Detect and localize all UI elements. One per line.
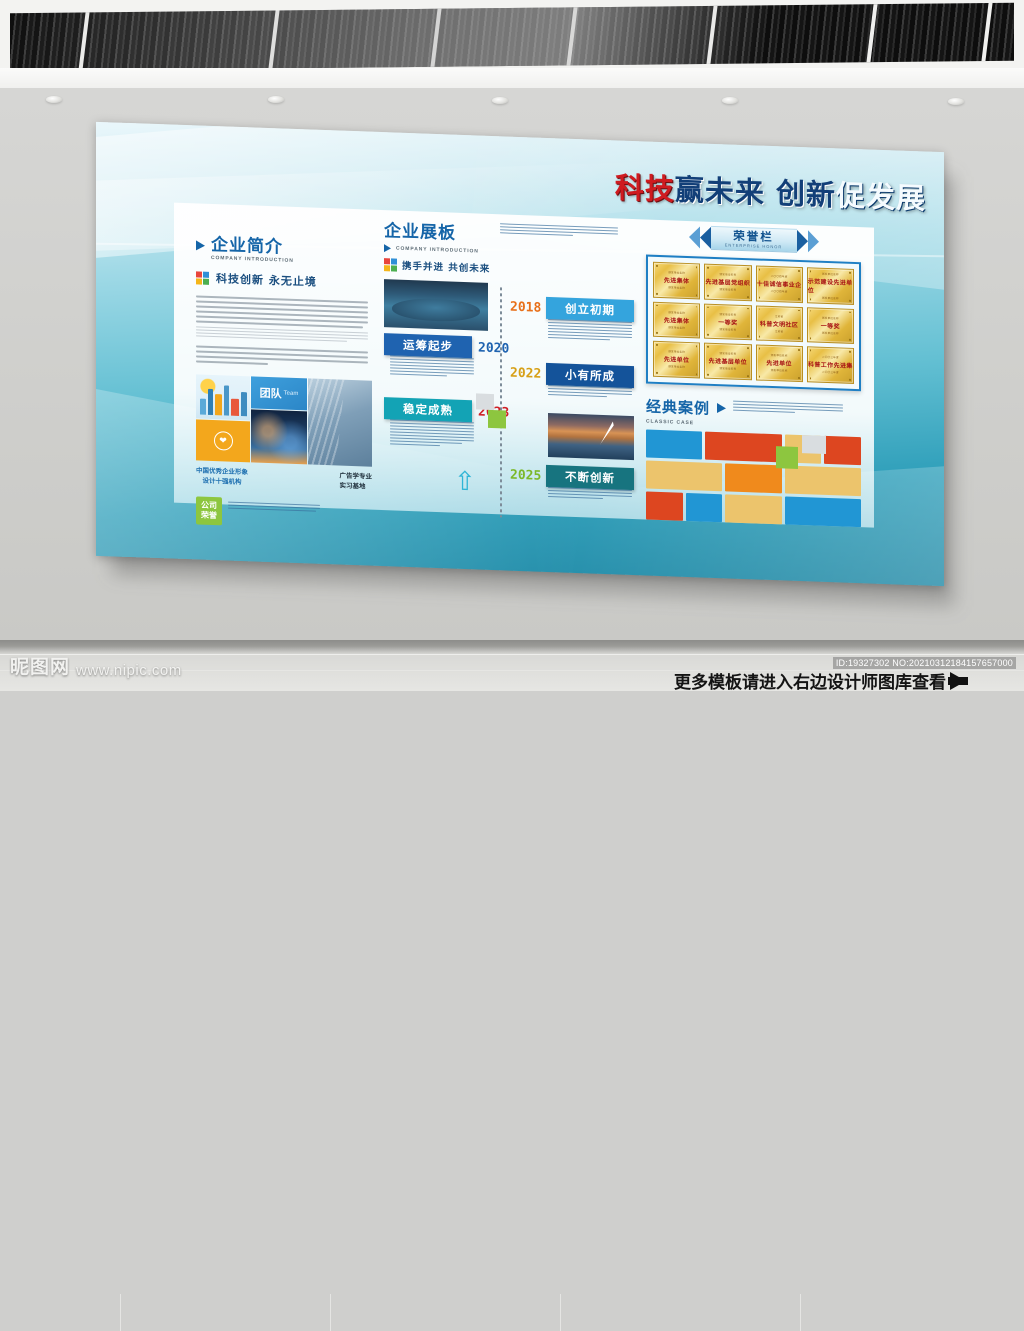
ceiling-spotlight: [492, 97, 508, 104]
case-color-block: [824, 435, 861, 464]
honor-plaque: 颁发单位名称一等奖颁发单位名称: [704, 303, 751, 340]
city-illustration-tile: [196, 374, 250, 420]
classic-case-title-en: CLASSIC CASE: [646, 418, 710, 426]
honor-plaque-issuer: 颁发单位名称: [668, 365, 685, 370]
caption-left: 中国优秀企业形象设计十强机构: [196, 466, 248, 487]
case-color-block: [785, 465, 861, 496]
company-intro-title: 企业简介: [211, 230, 294, 258]
slat-gap: [706, 6, 717, 64]
honor-plaque-subtitle: 颁发单位名称: [771, 353, 788, 358]
triangle-bullet-icon: [384, 244, 391, 252]
ceiling-spotlight: [268, 96, 284, 103]
color-swatch-icon: [384, 258, 397, 271]
plaque-screw-icon: [656, 293, 658, 295]
honor-plaque: 颁发单位名称先进单位颁发单位名称: [756, 344, 803, 381]
honor-plaque-subtitle: 二〇〇四年度: [771, 274, 788, 279]
honor-plaque-issuer: 颁发单位名称: [668, 286, 685, 291]
honor-plaque-subtitle: 颁发单位名称: [668, 271, 685, 276]
exhibition-title-en: COMPANY INTRODUCTION: [396, 246, 479, 255]
honor-ribbon-header: 荣誉栏 ENTERPRISE HONOR: [646, 224, 861, 256]
plaque-screw-icon: [798, 377, 800, 379]
plaque-screw-icon: [747, 375, 749, 377]
classic-case-intro-text: [733, 398, 843, 416]
timeline-banner: 创立初期: [546, 297, 634, 322]
honor-title-en: ENTERPRISE HONOR: [725, 242, 783, 249]
timeline-text: [548, 487, 632, 502]
plaque-screw-icon: [810, 338, 812, 340]
company-intro-paragraph-1: [196, 295, 368, 328]
plaque-screw-icon: [759, 269, 761, 271]
plaque-screw-icon: [810, 377, 812, 379]
case-color-block: [705, 431, 781, 462]
plaque-screw-icon: [849, 351, 851, 353]
triangle-bullet-icon: [196, 240, 205, 250]
timeline-text: [390, 419, 474, 449]
honor-plaque-subtitle: 颁发单位名称: [719, 312, 736, 317]
honor-plaque-issuer: 颁发单位名称: [822, 331, 839, 336]
timeline-text: [548, 319, 632, 343]
plaque-screw-icon: [759, 308, 761, 310]
ceiling-spotlight: [722, 97, 738, 104]
honor-plaque-subtitle: 颁发单位名称: [668, 350, 685, 355]
team-label-zh: 团队: [260, 385, 282, 402]
plaque-screw-icon: [656, 372, 658, 374]
watermark-url: www.nipic.com: [76, 662, 182, 679]
watermark-logo: 昵图网: [10, 652, 70, 679]
timeline-year: 2018: [510, 300, 541, 316]
plaque-screw-icon: [707, 374, 709, 376]
honor-plaque: 颁发单位名称一等奖颁发单位名称: [807, 307, 854, 344]
honor-plaque-issuer: 颁发单位名称: [719, 287, 736, 292]
content-panel: 企业简介 COMPANY INTRODUCTION 科技创新 永无止境: [174, 203, 874, 528]
timeline-photo-city: [384, 279, 488, 331]
honor-badge-text: [228, 497, 320, 513]
case-color-block: [725, 494, 781, 524]
honor-plaque-title: 十佳诚信事业企: [757, 279, 802, 290]
honor-plaque-title: 一等奖: [718, 317, 737, 327]
heart-icon: ❤: [214, 431, 233, 451]
timeline-year: 2025: [510, 468, 541, 484]
honor-plaque-issuer: 颁发单位名称: [719, 327, 736, 332]
honor-plaque-title: 示范建设先进单位: [808, 276, 853, 296]
plaque-screw-icon: [656, 344, 658, 346]
team-label-en: Team: [284, 391, 299, 398]
slat-gap: [430, 9, 441, 67]
slat-gap: [981, 3, 992, 61]
honor-plaque: 颁发单位名称先进集体颁发单位名称: [653, 301, 700, 338]
honor-plaque-issuer: 江苏省: [775, 329, 783, 333]
honor-plaque: 颁发单位名称先进基层党组织颁发单位名称: [704, 264, 751, 301]
company-intro-image-mosaic: ❤ 团队 Team: [196, 374, 372, 466]
plaque-screw-icon: [798, 309, 800, 311]
ceiling-slats: [10, 3, 1014, 72]
honor-plaque-title: 先进集体: [664, 275, 690, 285]
case-color-block: [646, 460, 722, 491]
honor-plaque-title: 一等奖: [821, 321, 840, 331]
exhibition-title: 企业展板: [384, 216, 490, 245]
case-color-block: [686, 492, 723, 521]
decor-square-green: [776, 446, 798, 469]
plaque-screw-icon: [849, 311, 851, 313]
classic-case-title: 经典案例: [646, 395, 710, 418]
timeline-year: 2022: [510, 366, 541, 382]
honor-plaque: 江苏省科普文明社区江苏省: [756, 305, 803, 342]
case-color-block: [646, 429, 702, 459]
case-color-block: [646, 491, 683, 520]
honor-plaque-title: 先进基层单位: [709, 356, 747, 366]
team-tile: 团队 Team: [251, 376, 307, 410]
culture-wall-board[interactable]: 科技赢未来 创新促发展 企业简介 COMPANY INTRODUCTION: [96, 122, 944, 586]
plaque-screw-icon: [696, 294, 698, 296]
plaque-screw-icon: [759, 296, 761, 298]
honor-plaque: 颁发单位名称示范建设先进单位颁发单位名称: [807, 267, 854, 304]
timeline-banner: 稳定成熟: [384, 397, 472, 422]
promo-text: 更多模板请进入右边设计师图库查看: [674, 668, 946, 693]
honor-ribbon: 荣誉栏 ENTERPRISE HONOR: [711, 226, 797, 253]
honor-badge: 公司荣誉: [196, 496, 222, 525]
exhibition-subtitle: 携手并进 共创未来: [402, 258, 490, 275]
plaque-screw-icon: [810, 298, 812, 300]
honor-plaque-subtitle: 颁发单位名称: [822, 316, 839, 321]
arrow-right-icon: [950, 672, 966, 690]
color-swatch-icon: [196, 271, 209, 284]
timeline-year: 2020: [478, 340, 509, 356]
honor-plaque-issuer: 颁发单位名称: [668, 325, 685, 330]
plaque-screw-icon: [747, 336, 749, 338]
decor-square-grey: [802, 435, 826, 454]
honor-plaque: 二〇〇三年度科普工作先进集二〇〇三年度: [807, 346, 854, 383]
honor-plaque-issuer: 颁发单位名称: [719, 366, 736, 371]
plaque-screw-icon: [707, 346, 709, 348]
honor-plaque-subtitle: 颁发单位名称: [668, 310, 685, 315]
honor-plaque-issuer: 颁发单位名称: [822, 296, 839, 301]
plaque-screw-icon: [656, 265, 658, 267]
section-company-intro: 企业简介 COMPANY INTRODUCTION 科技创新 永无止境: [196, 229, 372, 530]
company-intro-paragraph-en: [196, 326, 368, 342]
honor-plaque-title: 先进单位: [766, 358, 792, 368]
night-city-photo: [251, 409, 307, 464]
honor-plaque: 颁发单位名称先进集体颁发单位名称: [653, 262, 700, 299]
honor-plaque-title: 科普文明社区: [760, 318, 798, 328]
plaque-screw-icon: [696, 373, 698, 375]
plaque-screw-icon: [759, 336, 761, 338]
honor-plaque-subtitle: 二〇〇三年度: [822, 355, 839, 360]
case-color-block: [785, 496, 861, 527]
timeline: 2018 创立初期 运筹起步 2020 2022 小有所成: [384, 279, 634, 524]
ceiling: [0, 0, 1024, 68]
plaque-screw-icon: [849, 300, 851, 302]
honor-plaque-issuer: 二〇〇三年度: [822, 370, 839, 375]
honor-plaque: 二〇〇四年度十佳诚信事业企二〇〇四年度: [756, 265, 803, 302]
headline-part-4: 促发展: [836, 172, 926, 217]
plaque-screw-icon: [849, 272, 851, 274]
caption-right: 广告学专业实习基地: [340, 472, 373, 493]
plaque-screw-icon: [810, 270, 812, 272]
plaque-screw-icon: [696, 306, 698, 308]
chevron-left-icon: [689, 226, 700, 248]
timeline-banner: 小有所成: [546, 363, 634, 388]
plaque-screw-icon: [798, 337, 800, 339]
exhibition-intro-text: [500, 220, 618, 239]
plaque-screw-icon: [849, 339, 851, 341]
section-exhibition: 企业展板 COMPANY INTRODUCTION 携手并进 共创未来: [384, 216, 634, 524]
honor-plaque: 颁发单位名称先进基层单位颁发单位名称: [704, 343, 751, 380]
plaque-screw-icon: [656, 304, 658, 306]
plaque-screw-icon: [747, 347, 749, 349]
section-honor-and-cases: 荣誉栏 ENTERPRISE HONOR 颁发单位名称先进集体颁发单位名称颁发单…: [646, 220, 861, 527]
slat-gap: [78, 12, 89, 70]
honor-plaque-title: 先进集体: [664, 315, 690, 325]
plaque-screw-icon: [747, 296, 749, 298]
timeline-banner: 运筹起步: [384, 333, 472, 358]
honor-plaque-title: 科普工作先进集: [808, 360, 853, 371]
chevron-right-icon: [797, 230, 808, 252]
honor-plaque-subtitle: 颁发单位名称: [719, 351, 736, 356]
honor-plaque-grid: 颁发单位名称先进集体颁发单位名称颁发单位名称先进基层党组织颁发单位名称二〇〇四年…: [653, 262, 854, 384]
honor-plaque-subtitle: 江苏省: [775, 314, 783, 318]
plaque-screw-icon: [810, 310, 812, 312]
honor-plaque-subtitle: 颁发单位名称: [822, 272, 839, 277]
plaque-screw-icon: [747, 268, 749, 270]
honor-plaque-title: 先进单位: [664, 354, 690, 364]
headline-part-1: 科技: [615, 164, 675, 208]
chevron-right-icon: [808, 230, 819, 252]
plaque-screw-icon: [707, 334, 709, 336]
company-intro-subtitle: 科技创新 永无止境: [216, 270, 317, 290]
board-headline: 科技赢未来 创新促发展: [615, 164, 926, 217]
timeline-photo-sunset-sailboat: [548, 413, 634, 460]
plaque-screw-icon: [798, 349, 800, 351]
case-color-block: [725, 463, 781, 493]
plaque-screw-icon: [707, 267, 709, 269]
timeline-text: [548, 385, 632, 400]
plaque-screw-icon: [798, 270, 800, 272]
honor-plaque-frame: 颁发单位名称先进集体颁发单位名称颁发单位名称先进基层党组织颁发单位名称二〇〇四年…: [646, 255, 861, 391]
honor-plaque-issuer: 二〇〇四年度: [771, 289, 788, 294]
honor-plaque-subtitle: 颁发单位名称: [719, 272, 736, 277]
plaque-screw-icon: [696, 334, 698, 336]
plaque-screw-icon: [849, 379, 851, 381]
slat-gap: [866, 4, 877, 62]
plaque-screw-icon: [759, 348, 761, 350]
ceiling-spotlight: [948, 98, 964, 105]
timeline-banner: 不断创新: [546, 465, 634, 490]
plaque-screw-icon: [810, 349, 812, 351]
growth-arrow-icon: ⇧: [454, 468, 476, 495]
plaque-screw-icon: [707, 306, 709, 308]
slat-gap: [268, 10, 279, 68]
honor-plaque: 颁发单位名称先进单位颁发单位名称: [653, 341, 700, 378]
classic-case-block-grid: [646, 429, 861, 527]
promo-banner: 更多模板请进入右边设计师图库查看: [674, 668, 966, 693]
plaque-screw-icon: [707, 295, 709, 297]
chevron-left-icon: [700, 226, 711, 248]
plaque-screw-icon: [759, 375, 761, 377]
plaque-screw-icon: [656, 332, 658, 334]
heart-icon-tile: ❤: [196, 419, 250, 462]
slat-gap: [566, 7, 577, 65]
plaque-screw-icon: [747, 308, 749, 310]
plaque-screw-icon: [696, 266, 698, 268]
office-building-photo: [308, 378, 372, 466]
decor-square-green: [488, 410, 506, 429]
ceiling-spotlight: [46, 96, 62, 103]
headline-part-2: 赢未来: [675, 167, 765, 212]
triangle-bullet-icon: [717, 403, 726, 413]
honor-plaque-issuer: 颁发单位名称: [771, 368, 788, 373]
timeline-text: [390, 355, 474, 379]
timeline-dotted-spine: [500, 287, 502, 517]
plaque-screw-icon: [696, 345, 698, 347]
site-watermark: 昵图网 www.nipic.com: [10, 652, 182, 679]
honor-plaque-title: 先进基层党组织: [705, 277, 750, 288]
headline-part-3: 创新: [776, 170, 836, 214]
plaque-screw-icon: [798, 298, 800, 300]
decor-square-grey: [476, 393, 494, 410]
company-intro-paragraph-2: [196, 345, 368, 368]
